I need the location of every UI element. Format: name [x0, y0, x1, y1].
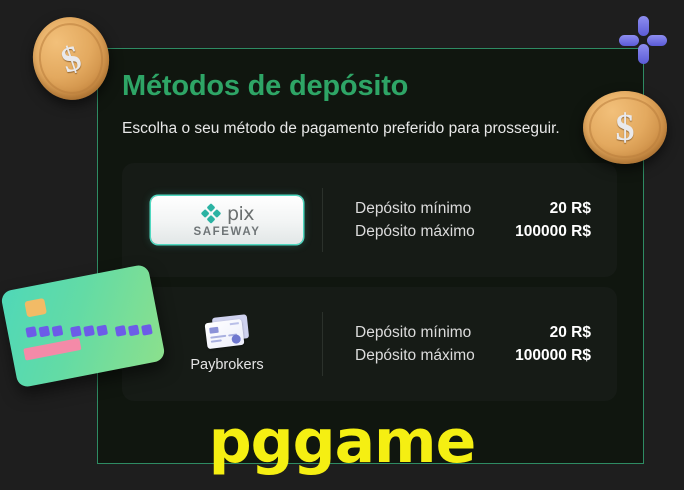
method-details: Depósito mínimo 20 R$ Depósito máximo 10…	[323, 200, 613, 241]
card-line-shape	[211, 339, 222, 342]
sparkle-arm	[619, 35, 639, 46]
pix-safeway-logo: pix SAFEWAY	[151, 196, 303, 244]
card-digit-shape	[52, 325, 64, 337]
card-digit-shape	[141, 324, 153, 336]
page-subtitle: Escolha o seu método de pagamento prefer…	[122, 116, 584, 141]
detail-label: Depósito máximo	[355, 223, 475, 241]
method-details: Depósito mínimo 20 R$ Depósito máximo 10…	[323, 324, 613, 365]
card-chip-shape	[209, 326, 219, 333]
detail-row-max: Depósito máximo 100000 R$	[355, 347, 591, 365]
sparkle-plus-icon	[619, 16, 667, 64]
credit-cards-icon	[204, 316, 250, 350]
detail-row-max: Depósito máximo 100000 R$	[355, 223, 591, 241]
card-chip-shape	[24, 298, 47, 318]
dollar-sign-glyph: $	[56, 36, 87, 82]
pix-diamond-icon	[200, 203, 222, 225]
method-name-label: Paybrokers	[190, 357, 263, 373]
safeway-wordmark: SAFEWAY	[193, 226, 260, 238]
detail-row-min: Depósito mínimo 20 R$	[355, 200, 591, 218]
gold-coin-icon: $	[583, 91, 667, 164]
payment-method-card-paybrokers[interactable]: Paybrokers Depósito mínimo 20 R$ Depósit…	[122, 287, 617, 401]
detail-row-min: Depósito mínimo 20 R$	[355, 324, 591, 342]
card-digit-shape	[38, 326, 50, 338]
card-digit-shape	[70, 326, 82, 338]
sparkle-arm	[647, 35, 667, 46]
watermark-text: pggame	[0, 412, 684, 472]
sparkle-arm	[638, 16, 649, 36]
detail-value: 20 R$	[550, 200, 591, 218]
page-title: Métodos de depósito	[122, 71, 617, 103]
card-digit-shape	[128, 325, 140, 337]
detail-label: Depósito mínimo	[355, 200, 471, 218]
method-logo-cell: pix SAFEWAY	[132, 196, 322, 244]
card-line-shape	[210, 334, 226, 337]
sparkle-arm	[638, 44, 649, 64]
deposit-methods-panel: Métodos de depósito Escolha o seu método…	[97, 48, 643, 464]
payment-method-card-pix-safeway[interactable]: pix SAFEWAY Depósito mínimo 20 R$ Depósi…	[122, 163, 617, 277]
payment-methods-list: pix SAFEWAY Depósito mínimo 20 R$ Depósi…	[122, 163, 617, 401]
card-front-shape	[205, 318, 245, 348]
card-digit-shape	[83, 325, 95, 337]
detail-value: 100000 R$	[515, 223, 591, 241]
dollar-sign-glyph: $	[616, 106, 635, 150]
detail-value: 100000 R$	[515, 347, 591, 365]
detail-value: 20 R$	[550, 324, 591, 342]
card-digit-shape	[96, 325, 108, 337]
card-digit-shape	[25, 326, 37, 338]
card-circle-shape	[231, 334, 241, 344]
card-digit-shape	[115, 325, 127, 337]
pix-logo-row: pix	[200, 203, 254, 225]
pix-wordmark: pix	[227, 205, 254, 224]
detail-label: Depósito mínimo	[355, 324, 471, 342]
detail-label: Depósito máximo	[355, 347, 475, 365]
card-topline-shape	[230, 322, 239, 325]
card-stripe-shape	[23, 338, 81, 361]
